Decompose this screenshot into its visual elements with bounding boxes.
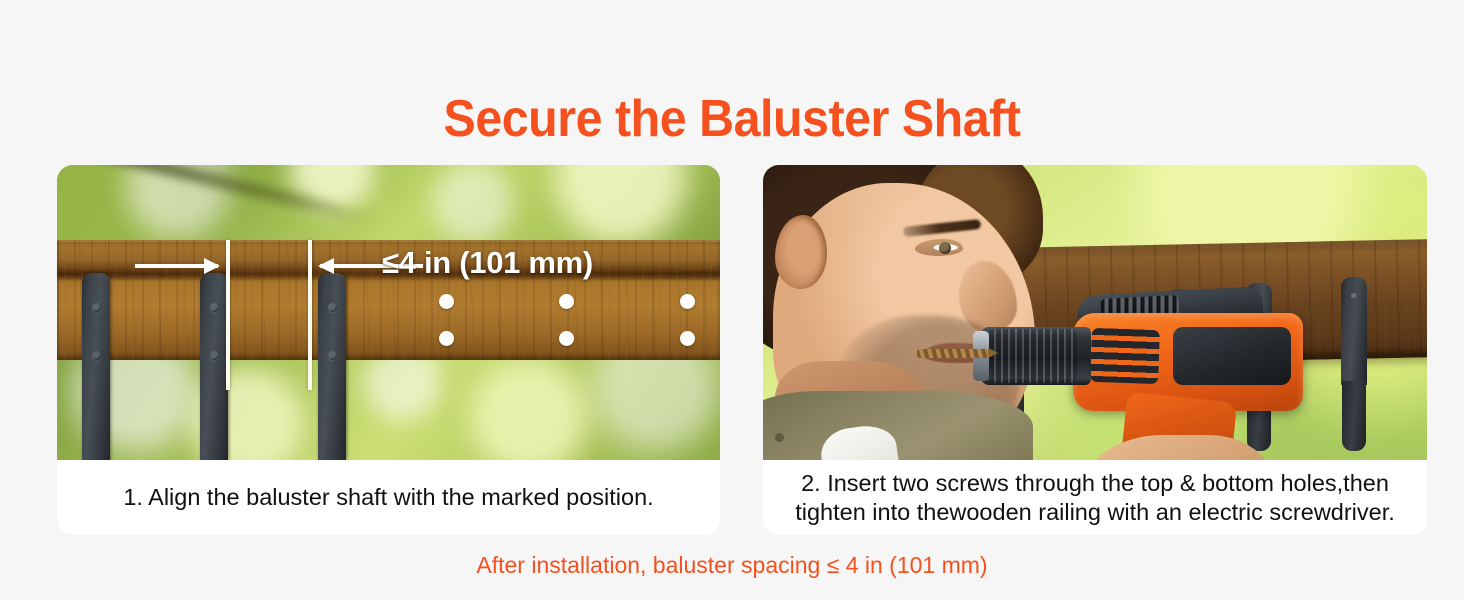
step-2-image (763, 165, 1427, 460)
baluster-shaft (200, 273, 228, 460)
step-2-caption-text: 2. Insert two screws through the top & b… (795, 469, 1395, 527)
drill-chuck-rings (987, 329, 1077, 383)
step-1-image: ≤4 in (101 mm) (57, 165, 720, 460)
screw-marker-dot (680, 331, 695, 346)
screw-marker-dot (439, 331, 454, 346)
spacing-measurement-label: ≤4 in (101 mm) (382, 243, 593, 283)
measurement-guide-line (226, 240, 230, 390)
measurement-guide-line (308, 240, 312, 390)
drill-vents (1090, 328, 1160, 384)
screw-marker-dot (559, 294, 574, 309)
instruction-page: Secure the Baluster Shaft (0, 0, 1464, 600)
step-1-caption-text: 1. Align the baluster shaft with the mar… (123, 483, 653, 512)
arrow-right-icon (135, 264, 218, 268)
screw-marker-dot (559, 331, 574, 346)
spacing-footnote: After installation, baluster spacing ≤ 4… (0, 550, 1464, 581)
step-card-1: ≤4 in (101 mm) 1. Align the baluster sha… (57, 165, 720, 535)
screw-marker-dot (680, 294, 695, 309)
drill-side-panel (1173, 327, 1291, 385)
baluster-shaft (82, 273, 110, 460)
screw-marker-dot (439, 294, 454, 309)
ear (775, 215, 827, 289)
baluster-shaft (318, 273, 346, 460)
gripping-hand (1083, 435, 1273, 460)
electric-drill (973, 285, 1427, 460)
shirt-button (775, 433, 784, 442)
eye (915, 239, 963, 256)
page-title: Secure the Baluster Shaft (51, 88, 1413, 150)
step-card-2: 2. Insert two screws through the top & b… (763, 165, 1427, 535)
drill-bit (917, 349, 989, 358)
step-1-caption: 1. Align the baluster shaft with the mar… (57, 460, 720, 535)
step-2-caption: 2. Insert two screws through the top & b… (763, 460, 1427, 535)
